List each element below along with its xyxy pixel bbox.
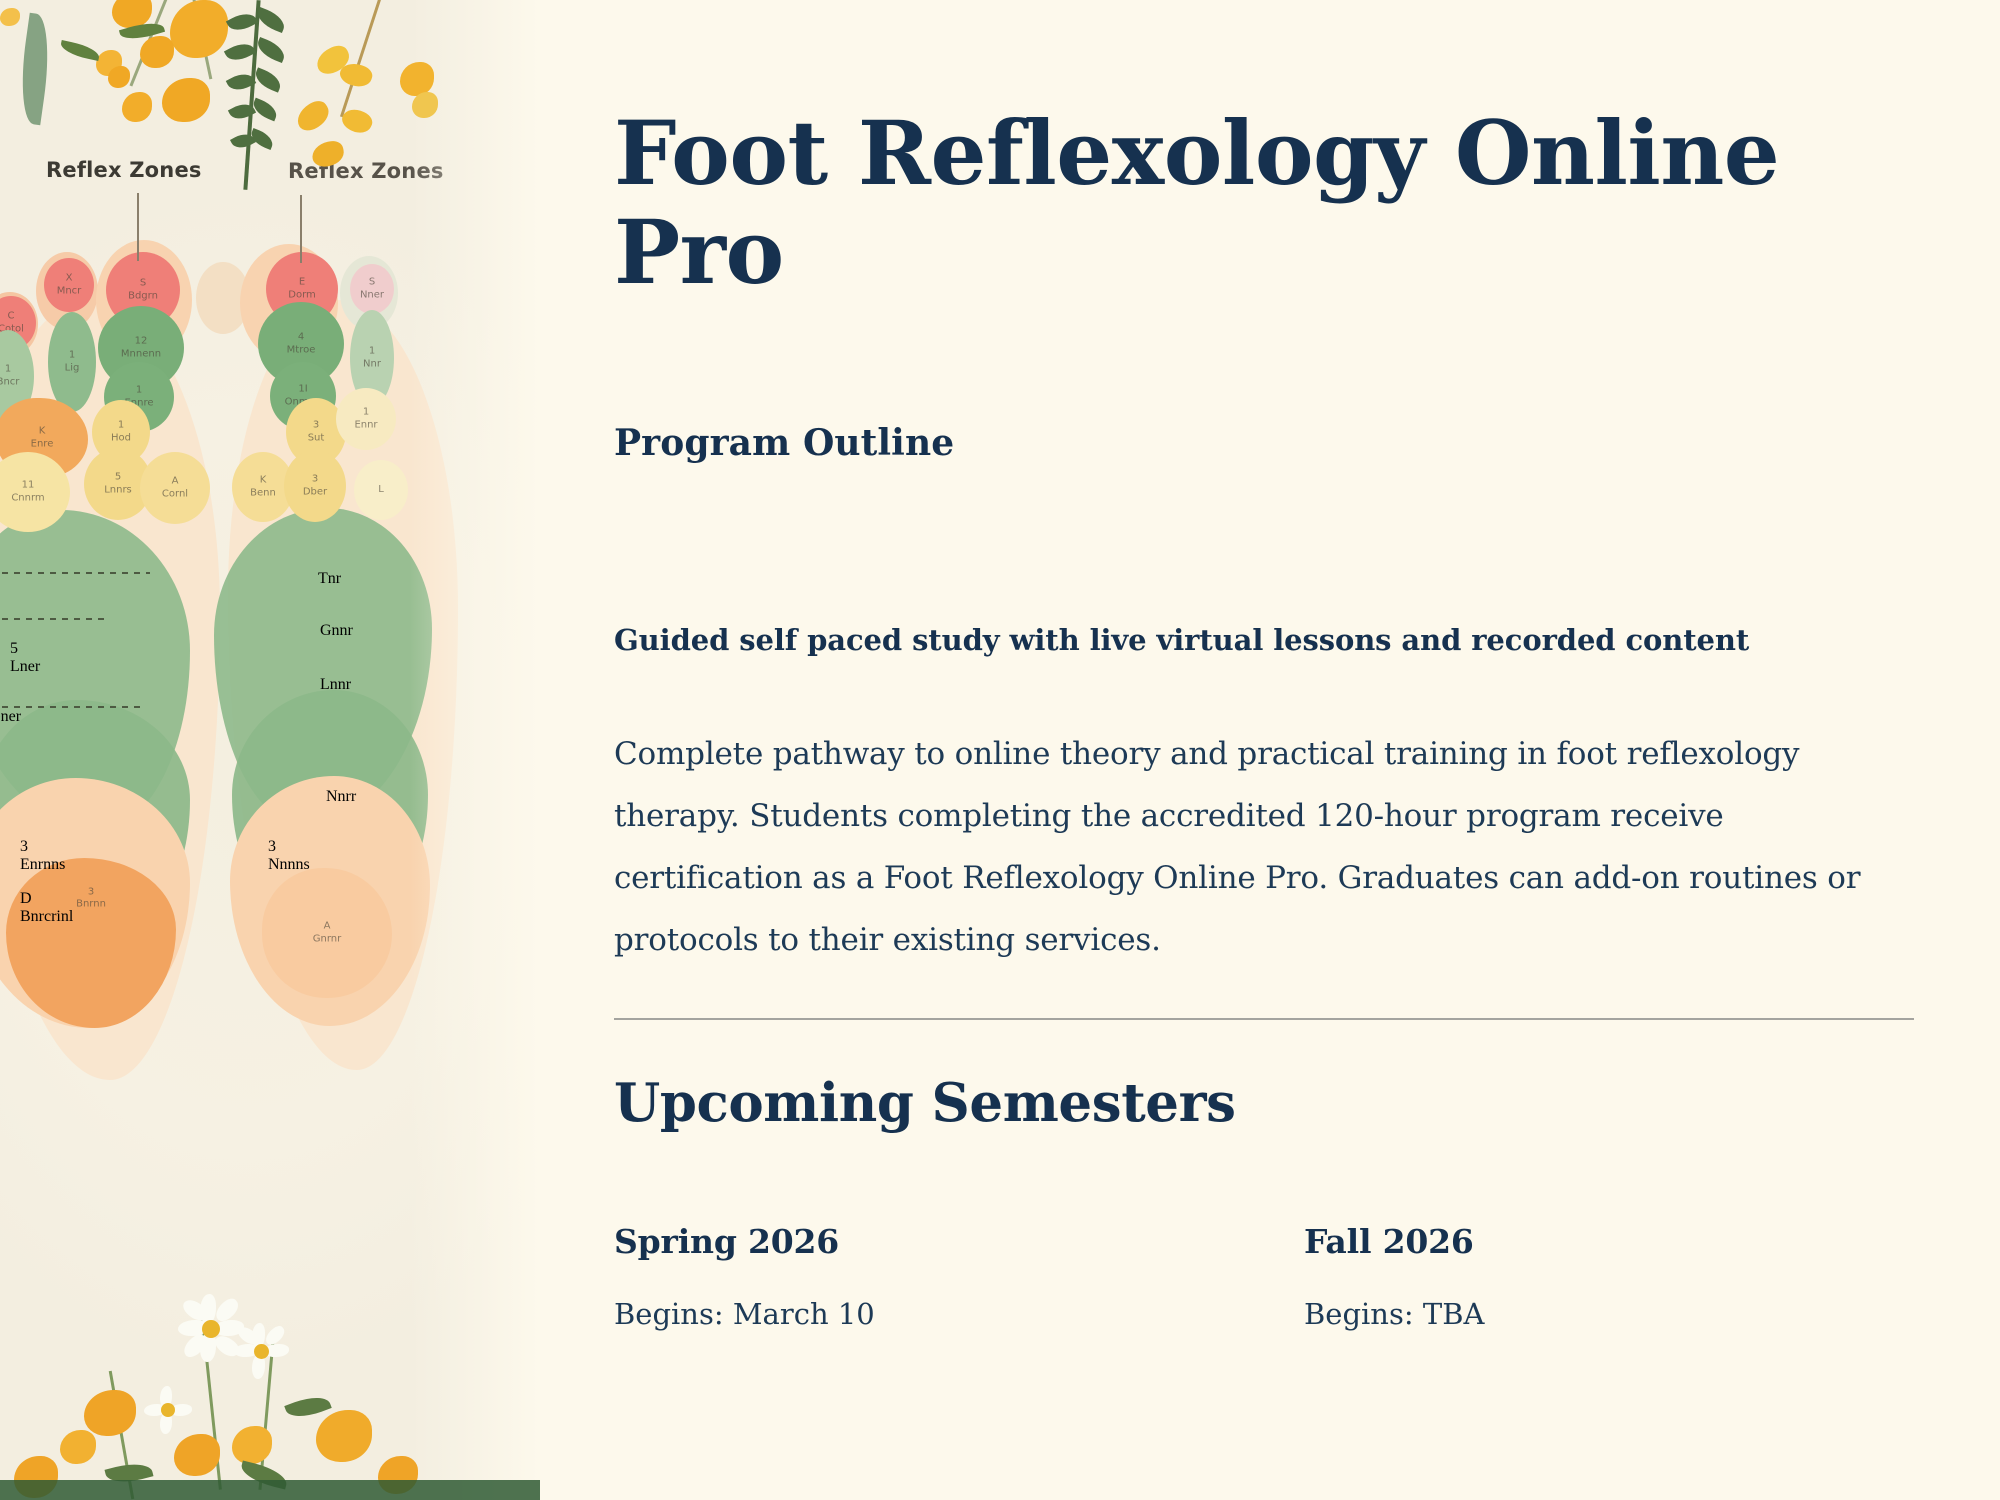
zone-red: SNner <box>350 264 394 314</box>
page-title: Foot Reflexology Online Pro <box>614 104 1814 303</box>
zone-label: XMncr <box>44 273 94 298</box>
zone-label: 1Hod <box>92 420 150 445</box>
zone-label: 1Ennr <box>336 407 396 432</box>
zone-label: Tnr <box>318 570 408 588</box>
zone-label: SNner <box>350 277 394 302</box>
zone-yellow: L <box>354 460 408 520</box>
left-callout-leader-line <box>137 193 139 261</box>
zone-label: L <box>354 484 408 497</box>
semester-card-fall: Fall 2026 Begins: TBA <box>1304 1222 1484 1331</box>
zone-green: 1Lig <box>48 312 96 412</box>
program-description: Complete pathway to online theory and pr… <box>614 723 1904 971</box>
semester-start-date: Begins: TBA <box>1304 1297 1484 1331</box>
zone-label: Gnnr <box>320 622 410 640</box>
reflexology-illustration: CCotol XMncr SBdgrn EDorm SNner 1Lig 12M… <box>0 0 540 1500</box>
zone-label: 11Cnnrm <box>0 480 70 505</box>
program-lead-text: Guided self paced study with live virtua… <box>614 623 1894 657</box>
zone-label: 5Lner <box>10 640 100 676</box>
slide-root: CCotol XMncr SBdgrn EDorm SNner 1Lig 12M… <box>0 0 2000 1500</box>
semester-card-spring: Spring 2026 Begins: March 10 <box>614 1222 875 1331</box>
zone-yellow: 1Ennr <box>336 388 396 450</box>
illustration-fade-edge <box>410 0 540 1500</box>
semester-name: Spring 2026 <box>614 1222 875 1261</box>
zone-label: 3Dber <box>284 474 346 499</box>
page-subtitle: Program Outline <box>614 422 954 464</box>
left-reflex-zones-label: Reflex Zones <box>46 158 202 182</box>
zone-yellow: 3Dber <box>284 450 346 522</box>
zone-label: Nnrr <box>326 788 416 806</box>
zone-label: 1Nnr <box>350 346 394 371</box>
zone-orange-heel-2: AGnrnr <box>262 868 392 998</box>
zone-label: DBnrcrinl <box>20 890 140 926</box>
zone-label: 1Bncr <box>0 364 34 389</box>
zone-label: AGnrnr <box>262 921 392 946</box>
right-callout-leader-line <box>300 195 302 263</box>
zone-label: 3Enrnns <box>20 838 130 874</box>
zone-label: Lnnr <box>320 676 410 694</box>
guide-line <box>0 618 110 620</box>
semester-name: Fall 2026 <box>1304 1222 1484 1261</box>
zone-label: 3Nnnns <box>268 838 378 874</box>
zone-red: XMncr <box>44 258 94 312</box>
upcoming-semesters-heading: Upcoming Semesters <box>614 1072 1236 1134</box>
zone-label: EDorm <box>266 277 338 302</box>
zone-yellow: ACornl <box>140 452 210 524</box>
zone-label: 1Lig <box>48 350 96 375</box>
zone-label: KEnre <box>0 426 88 451</box>
zone-label: Gener <box>0 708 72 726</box>
zone-label: SBdgrn <box>106 278 180 303</box>
semester-start-date: Begins: March 10 <box>614 1297 875 1331</box>
zone-label: 12Mnnenn <box>98 336 184 361</box>
zone-label: ACornl <box>140 476 210 501</box>
zone-label: 4Mtroe <box>258 332 344 357</box>
content-column: Foot Reflexology Online Pro Program Outl… <box>614 0 2000 1500</box>
section-divider <box>614 1018 1914 1020</box>
guide-line <box>0 572 150 574</box>
